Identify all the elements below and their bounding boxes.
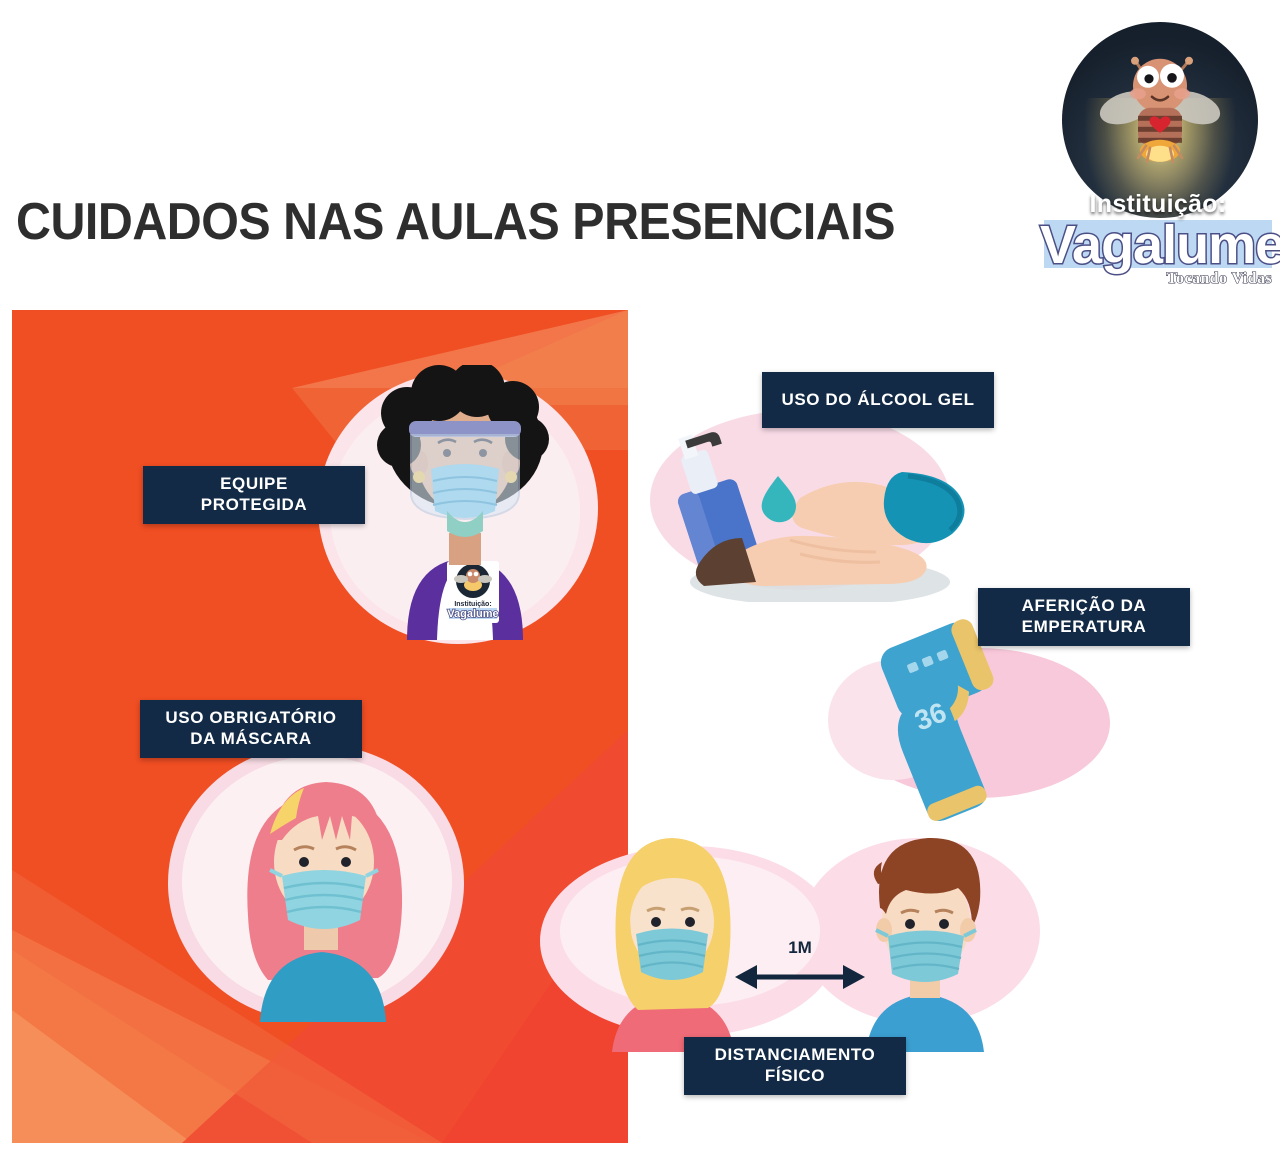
logo-tagline: Tocando Vidas [1040,270,1272,288]
label-alcool-gel: USO DO ÁLCOOL GEL [762,372,994,428]
logo-brand-name: Vagalume [1040,214,1276,276]
distance-value: 1M [735,938,865,958]
label-gel-line1: USO DO ÁLCOOL GEL [781,390,974,411]
label-mask-line2: DA MÁSCARA [165,729,336,750]
staff-with-face-shield-icon: Instituição: Vagalume [355,365,575,640]
label-dist-line2: FÍSICO [715,1066,876,1087]
poster-root: CUIDADOS NAS AULAS PRESENCIAIS [0,0,1280,1150]
svg-text:Instituição:: Instituição: [454,601,491,608]
logo-circle [1062,22,1258,218]
label-distanciamento-fisico: DISTANCIAMENTO FÍSICO [684,1037,906,1095]
label-afericao-temperatura: AFERIÇÃO DA EMPERATURA [978,588,1190,646]
label-temp-line2: EMPERATURA [1022,617,1147,638]
label-equipe-line2: PROTEGIDA [201,495,307,516]
label-equipe-line1: EQUIPE [201,474,307,495]
page-title: CUIDADOS NAS AULAS PRESENCIAIS [16,192,909,252]
infrared-thermometer-icon: 36 [855,615,1045,830]
girl-wearing-mask-icon [212,756,432,1022]
label-mask-line1: USO OBRIGATÓRIO [165,708,336,729]
label-temp-line1: AFERIÇÃO DA [1022,596,1147,617]
hand-sanitizer-icon [640,412,970,602]
label-equipe-protegida: EQUIPE PROTEGIDA [143,466,365,524]
double-arrow-icon [735,960,865,994]
boy-distancing-icon [838,826,1018,1052]
distance-indicator: 1M [735,938,865,994]
svg-text:Vagalume: Vagalume [447,608,498,620]
label-uso-mascara: USO OBRIGATÓRIO DA MÁSCARA [140,700,362,758]
vagalume-logo: Instituição: Vagalume Tocando Vidas [1040,18,1276,290]
firefly-icon [1096,50,1224,180]
label-dist-line1: DISTANCIAMENTO [715,1045,876,1066]
